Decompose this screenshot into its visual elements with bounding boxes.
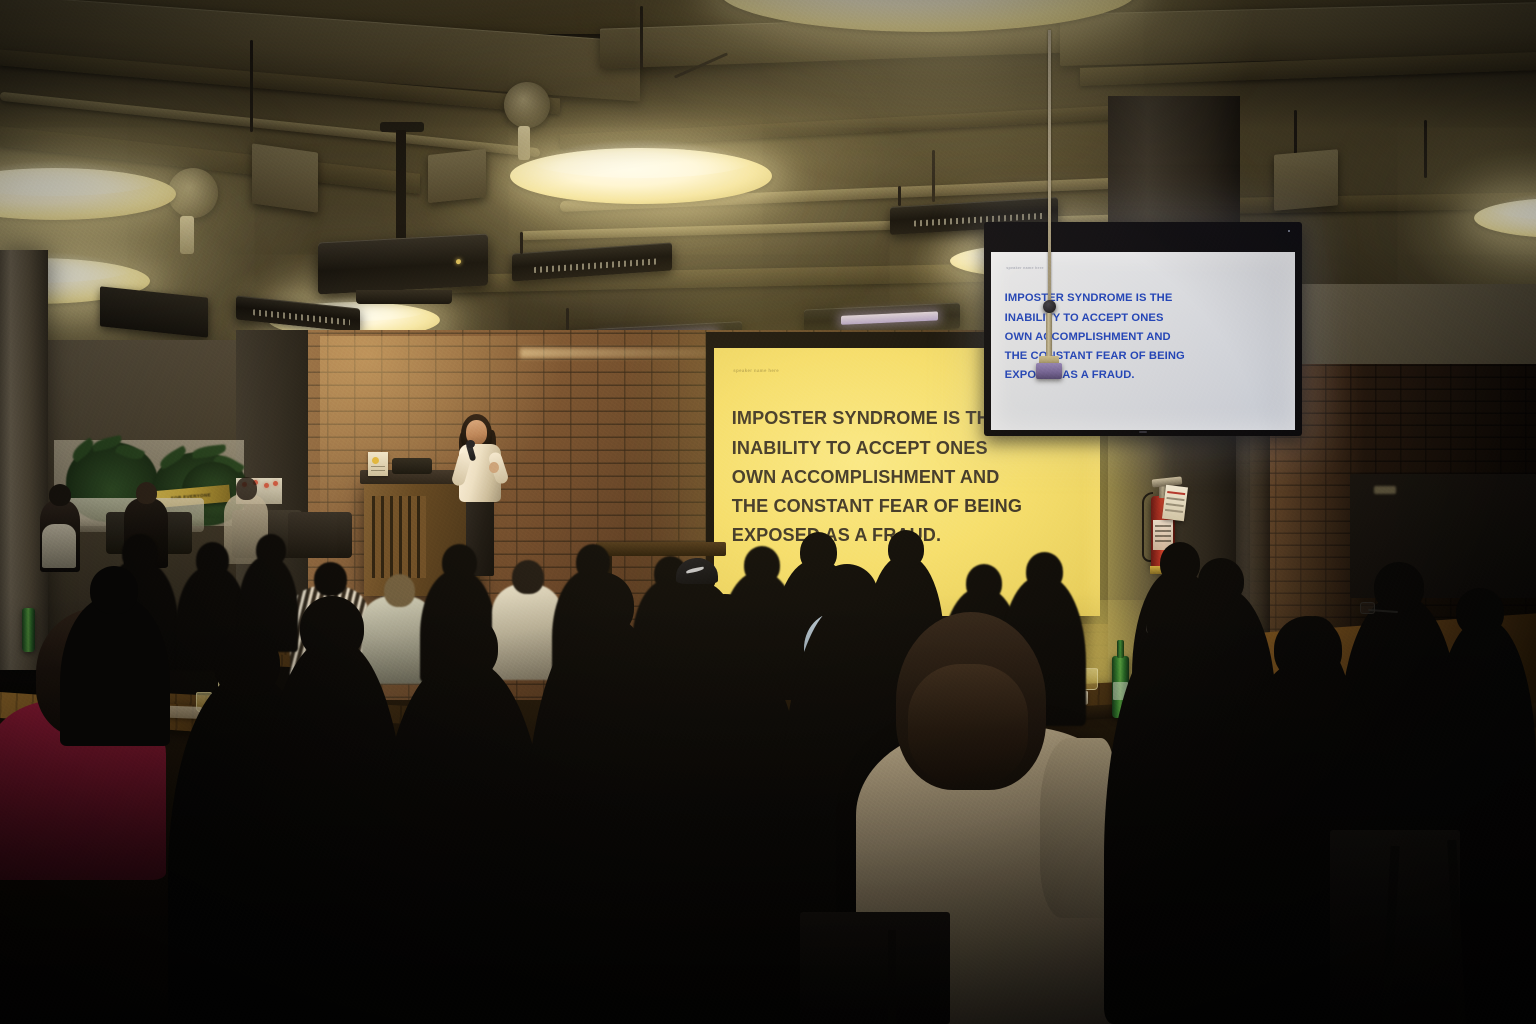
person-head [90,566,138,614]
person-head [512,560,544,594]
person-head [196,542,229,578]
bg-person-head [136,482,157,504]
presenter-hand [489,462,499,473]
light-bar-1-hanger [520,232,523,254]
person-head [1146,588,1210,650]
projector-mount-pole [396,130,406,238]
person-head [442,544,477,581]
label-line [1155,535,1172,537]
reel-hook-2 [518,126,530,160]
person-head [816,564,878,626]
microphone-capsule-icon [466,440,475,448]
wooden-bench [596,542,726,556]
ceiling-conduit-b [640,6,643,68]
light-bar-lamp [841,311,938,325]
fire-extinguisher-inspection-tag [1162,485,1188,521]
podium-equipment [392,458,432,474]
podium-signage-card [368,452,388,476]
wall-screen-glint [1374,486,1396,494]
person-head [690,594,760,662]
slide-line-3: OWN ACCOMPLISHMENT AND [732,463,1081,492]
reel-hook [180,216,194,254]
foreground-figure-hair-mass [908,664,1028,784]
person-head [426,612,498,682]
tv-power-led-icon [1288,230,1290,232]
audience-person-fg-4 [378,660,548,1024]
audience-person-fg-1 [60,596,170,746]
label-line [1155,525,1172,527]
tag-line [1167,497,1185,501]
light-bar-grille [534,258,659,273]
person-head [888,530,924,568]
bg-person-head [236,477,257,500]
tag-line [1165,509,1183,513]
podium-slats [372,496,426,578]
person-head [214,630,280,696]
lounge-armchair-3 [288,512,352,558]
cable-reel-icon-2 [504,82,550,128]
card-line [371,470,385,471]
ceiling-speaker-1 [252,143,318,212]
slide-corner-tag: speaker name here [733,368,779,373]
cap-logo-icon [686,567,705,574]
tv-corner-tag: speaker name here [1006,266,1044,270]
person-head [300,596,364,660]
tv-brand-logo [1139,431,1147,433]
event-photo-scene: FOR EVERYONE speaker name here IMPOSTER … [0,0,1536,1024]
hanging-mic-base [1036,363,1062,379]
chair-1 [800,912,950,1024]
bottle-green-3[interactable] [22,608,35,652]
person-head [1160,542,1200,584]
person-head [256,534,286,566]
slide-line-4: THE CONSTANT FEAR OF BEING [732,492,1081,521]
cable-knob [1043,300,1056,313]
ceiling-projector [318,234,488,295]
card-line [371,466,385,467]
concrete-column-left [0,250,48,670]
person-head [384,574,415,607]
person-head [1274,616,1342,682]
tag-line [1167,491,1185,495]
bottle-neck-1 [1117,640,1124,658]
chair-leg [888,930,896,1024]
bg-person-head [49,484,71,506]
card-dot-icon [372,457,379,464]
person-head [1456,588,1504,636]
ceiling-conduit-a [250,40,253,132]
flower-icon [273,481,278,486]
label-line [1155,540,1172,542]
person-head [568,572,634,638]
ceiling-speaker-3 [1274,149,1338,211]
ceiling-speaker-2 [428,149,486,203]
person-head [1424,660,1488,722]
person-head [800,532,837,572]
pendant-disc-light-2 [510,148,772,204]
person-head [122,534,158,572]
ceiling-conduit-d [932,150,935,202]
person-head [1198,558,1244,604]
projector-led-icon [456,259,461,264]
light-bar-grille [253,310,350,325]
wall-mounted-tv[interactable]: speaker name here IMPOSTER SYNDROME IS T… [991,252,1295,430]
flower-icon [264,483,269,488]
person-head [314,562,347,596]
foreground-figure-arm [1040,738,1114,918]
person-head [966,564,1002,602]
light-bar-2-hanger [898,186,901,206]
slide-line-2: INABILITY TO ACCEPT ONES [732,434,1081,463]
bg-person-1-shirt [42,524,76,568]
ceiling-conduit-f [1424,120,1427,178]
wall-panel-right [1276,284,1536,364]
eyeglasses-lens [1360,602,1375,614]
light-bar-3-hanger [566,308,569,330]
label-line [1155,530,1172,532]
person-head [744,546,780,584]
projector-lens-housing [356,290,452,304]
person-head [1374,562,1424,612]
person-head [1026,552,1063,591]
tag-line [1166,503,1184,507]
